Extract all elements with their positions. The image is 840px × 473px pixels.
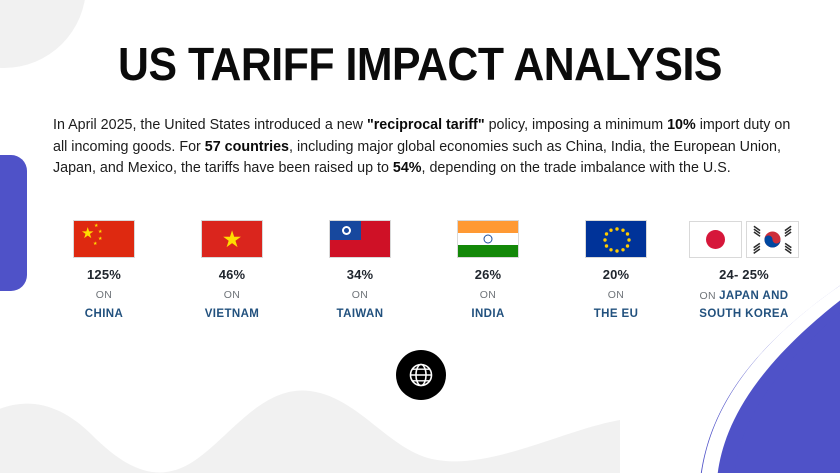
paragraph-emphasis: "reciprocal tariff"	[367, 117, 485, 133]
tariff-on-label: ON	[699, 290, 715, 302]
india-flag	[457, 220, 519, 258]
tariff-card-japan-south-korea[interactable]: 24- 25% ON JAPAN AND SOUTH KOREA	[680, 218, 808, 322]
globe-badge[interactable]	[396, 350, 446, 400]
flag-row-taiwan	[329, 218, 391, 258]
tariff-country-name: INDIA	[471, 307, 504, 321]
intro-paragraph: In April 2025, the United States introdu…	[53, 115, 795, 180]
tariff-card-eu[interactable]: 20% ON THE EU	[552, 218, 680, 321]
tariff-card-vietnam[interactable]: ★ 46% ON VIETNAM	[168, 218, 296, 321]
tariff-on-label: ON	[480, 289, 497, 301]
flag-row-japan-south-korea	[689, 218, 799, 258]
tariff-percent: 46%	[219, 267, 246, 282]
paragraph-emphasis: 57 countries	[205, 139, 289, 155]
tariff-card-taiwan[interactable]: 34% ON TAIWAN	[296, 218, 424, 321]
paragraph-emphasis: 54%	[393, 160, 422, 176]
tariff-percent: 20%	[603, 267, 630, 282]
tariff-on-label: ON	[224, 289, 241, 301]
tariff-country-name: VIETNAM	[205, 307, 260, 321]
paragraph-emphasis: 10%	[667, 117, 696, 133]
tariff-country-name: TAIWAN	[337, 307, 384, 321]
taiwan-flag	[329, 220, 391, 258]
tariff-on-label: ON	[352, 289, 369, 301]
page-title: US TARIFF IMPACT ANALYSIS	[29, 39, 810, 89]
paragraph-text: policy, imposing a minimum	[485, 117, 667, 133]
european-union-flag	[585, 220, 647, 258]
globe-icon	[408, 362, 434, 388]
tariff-percent: 26%	[475, 267, 502, 282]
tariff-card-china[interactable]: ★ ★ ★ ★ ★ 125% ON CHINA	[40, 218, 168, 321]
tariff-cards-row: ★ ★ ★ ★ ★ 125% ON CHINA ★ 46% ON VIETNAM	[40, 218, 808, 322]
japan-flag	[689, 221, 742, 258]
tariff-card-india[interactable]: 26% ON INDIA	[424, 218, 552, 321]
tariff-country-name-line2: SOUTH KOREA	[699, 307, 788, 322]
flag-row-eu	[585, 218, 647, 258]
paragraph-text: , depending on the trade imbalance with …	[422, 160, 731, 176]
tariff-country-name-line1: JAPAN AND	[719, 290, 788, 302]
korea-taegeuk	[747, 222, 798, 257]
paragraph-text: In April 2025, the United States introdu…	[53, 117, 367, 133]
tariff-country-name: THE EU	[594, 307, 639, 321]
tariff-percent: 125%	[87, 267, 121, 282]
gray-wave-decoration-bottom	[0, 357, 620, 473]
flag-row-vietnam: ★	[201, 218, 263, 258]
south-korea-flag	[746, 221, 799, 258]
flag-row-china: ★ ★ ★ ★ ★	[73, 218, 135, 258]
tariff-percent: 34%	[347, 267, 374, 282]
tariff-on-country-block: ON JAPAN AND SOUTH KOREA	[699, 289, 788, 322]
purple-bar-decoration-left	[0, 155, 27, 291]
china-flag: ★ ★ ★ ★ ★	[73, 220, 135, 258]
tariff-on-label: ON	[608, 289, 625, 301]
tariff-on-label: ON	[96, 289, 113, 301]
tariff-country-name: CHINA	[85, 307, 123, 321]
flag-row-india	[457, 218, 519, 258]
eu-stars	[586, 221, 647, 258]
vietnam-flag: ★	[201, 220, 263, 258]
tariff-percent: 24- 25%	[719, 267, 769, 282]
